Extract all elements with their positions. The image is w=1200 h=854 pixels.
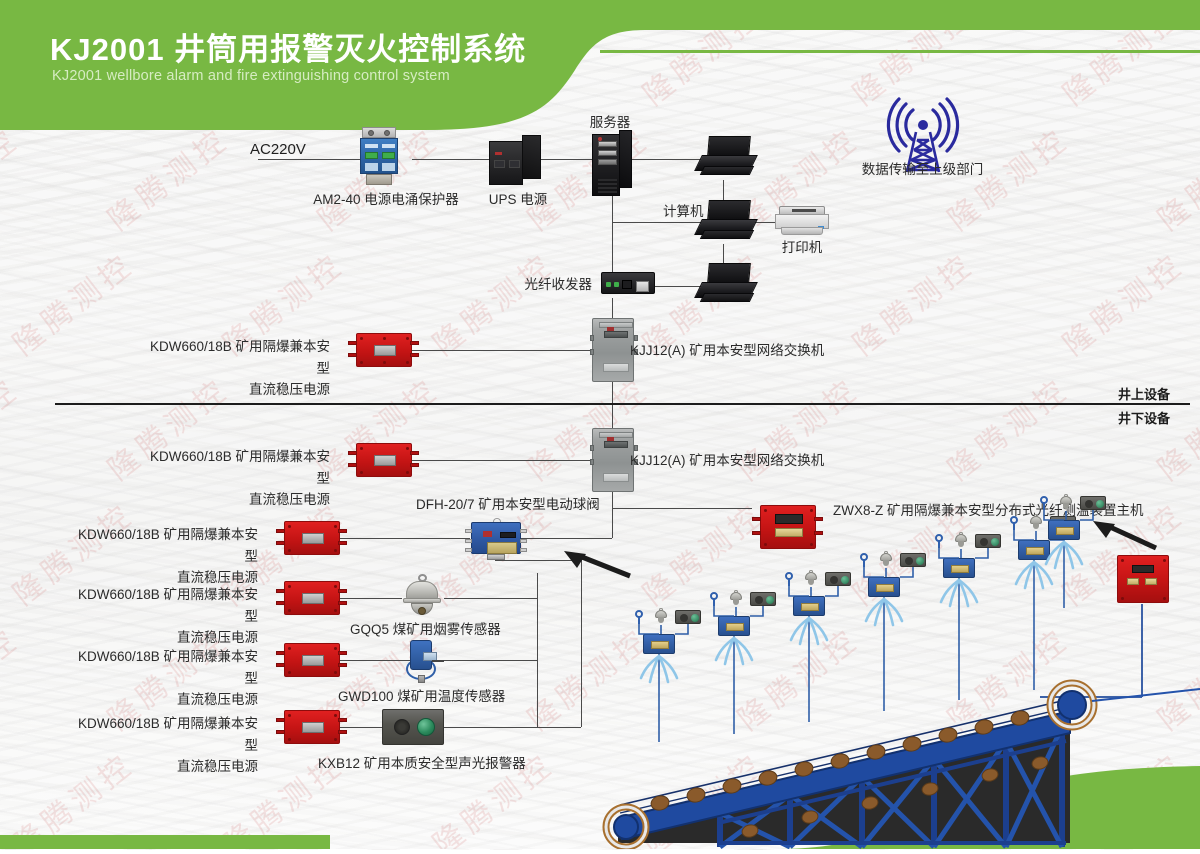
label-printer: 打印机 [766,238,838,259]
label-above-ground: 井上设备 [1118,385,1170,405]
electric-ball-valve-icon [1048,520,1080,540]
smoke-sensor-icon [1058,494,1074,511]
label-switch-underground: KJJ12(A) 矿用本安型网络交换机 [630,451,824,472]
computer-icon [698,200,756,248]
wire-kdw2-to-switch2 [410,460,600,461]
label-computers: 计算机 [663,202,704,223]
label-kdw-6: KDW660/18B 矿用隔爆兼本安型 直流稳压电源 [68,713,258,778]
explosion-proof-power-icon [276,581,348,617]
smoke-sensor-icon [1028,514,1044,531]
footer-accent-left [0,835,330,849]
wire-temp-to-bus [444,660,537,661]
wire-kdw5-to-temp [340,660,410,661]
label-kdw-surface: KDW660/18B 矿用隔爆兼本安型 直流稳压电源 [140,336,330,401]
label-kdw-3: KDW660/18B 矿用隔爆兼本安型 直流稳压电源 [68,524,258,589]
audible-visual-alarm-icon [750,592,776,606]
electric-ball-valve-icon [718,616,750,636]
smoke-sensor-icon [653,608,669,625]
wire-ups-to-server [540,159,600,160]
ground-level-divider [55,403,1190,405]
label-below-ground: 井下设备 [1118,409,1170,429]
page-title: KJ2001 井筒用报警灭火控制系统 [50,24,526,69]
spray-nozzle-icon [783,572,795,586]
explosion-proof-power-icon [348,443,420,479]
server-tower-icon [592,130,632,196]
smoke-sensor-icon [953,532,969,549]
wire-kdw3-to-valve [340,538,470,539]
smoke-sensor-icon [878,551,894,568]
wire-kdw4-to-smoke [340,598,402,599]
spray-nozzle-icon [858,553,870,567]
explosion-proof-power-icon [276,710,348,746]
arrow-to-fiber-host-icon [1090,518,1162,557]
conveyor-belt-icon [600,555,1200,854]
label-fiber-transceiver: 光纤收发器 [480,275,592,296]
label-surge-protector: AM2-40 电源电涌保护器 [306,190,466,211]
label-electric-ball-valve: DFH-20/7 矿用本安型电动球阀 [416,495,600,516]
spray-nozzle-icon [1038,496,1050,510]
temperature-sensor-icon [402,638,442,684]
electric-ball-valve-icon [943,558,975,578]
audible-visual-alarm-icon [825,572,851,586]
wire-spd-to-ups [412,159,492,160]
electric-ball-valve-icon [465,518,527,564]
diagram-canvas: 隆腾测控隆腾测控隆腾测控隆腾测控隆腾测控隆腾测控隆腾测控隆腾测控隆腾测控隆腾测控… [0,0,1200,849]
wire-server-to-pc1 [628,159,708,160]
explosion-proof-power-icon [276,643,348,679]
spray-nozzle-icon [633,610,645,624]
electric-ball-valve-icon [793,596,825,616]
label-ac-input: AC220V [250,138,306,161]
audible-visual-alarm-icon [975,534,1001,548]
spray-nozzle-icon [708,592,720,606]
surge-protector-icon [358,127,400,185]
explosion-proof-power-icon [348,333,420,369]
electric-ball-valve-icon [1018,540,1050,560]
smoke-sensor-icon [728,590,744,607]
explosion-proof-power-icon [276,521,348,557]
smoke-sensor-icon [400,574,444,622]
label-kdw-2: KDW660/18B 矿用隔爆兼本安型 直流稳压电源 [140,446,330,511]
audible-visual-alarm-icon [382,709,444,745]
spray-nozzle-icon [1008,516,1020,530]
printer-icon [775,206,829,240]
label-kdw-5: KDW660/18B 矿用隔爆兼本安型 直流稳压电源 [68,646,258,711]
wire-switch2-to-zwx [612,508,752,509]
audible-visual-alarm-icon [1080,496,1106,510]
wire-smoke-to-bus [444,598,537,599]
wire-switch2-to-valve-v [612,508,613,538]
label-kdw-4: KDW660/18B 矿用隔爆兼本安型 直流稳压电源 [68,584,258,649]
smoke-sensor-icon [803,570,819,587]
wire-server-bus [612,186,613,286]
fiber-transceiver-icon [601,272,655,298]
electric-ball-valve-icon [868,577,900,597]
page-subtitle: KJ2001 wellbore alarm and fire extinguis… [52,68,450,84]
wire-sensor-bus2 [581,560,582,727]
label-ups: UPS 电源 [478,190,558,211]
wire-sensor-bus [537,573,538,728]
wire-kdw1-to-switch [410,350,600,351]
computer-icon [698,136,756,184]
label-switch-surface: KJJ12(A) 矿用本安型网络交换机 [630,341,824,362]
fiber-temperature-host-icon [752,505,824,551]
label-audible-visual-alarm: KXB12 矿用本质安全型声光报警器 [318,754,526,775]
electric-ball-valve-icon [643,634,675,654]
label-temperature-sensor: GWD100 煤矿用温度传感器 [338,687,505,708]
audible-visual-alarm-icon [675,610,701,624]
header-accent-line [600,50,1200,53]
audible-visual-alarm-icon [900,553,926,567]
wire-alarm-to-bus [444,727,581,728]
ups-icon [489,135,541,185]
label-server: 服务器 [570,113,650,134]
computer-icon [698,263,756,311]
label-uplink: 数据传输至上级部门 [845,160,1000,181]
spray-nozzle-icon [933,534,945,548]
